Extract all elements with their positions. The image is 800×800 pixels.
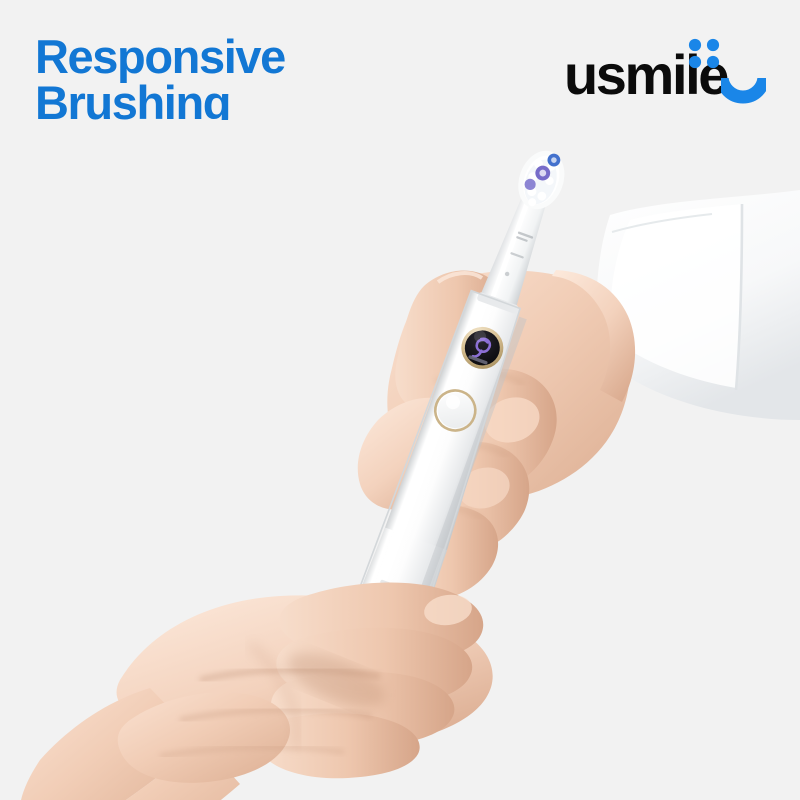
page-title: Responsive Brushing xyxy=(35,34,285,126)
brand-logo: usmile xyxy=(566,36,766,104)
product-photo xyxy=(0,120,800,800)
usmile-logo-mark: usmile xyxy=(566,36,766,104)
logo-wordmark: usmile xyxy=(566,43,728,104)
product-banner: Responsive Brushing Get the bass brushin… xyxy=(0,0,800,800)
logo-smile-arc xyxy=(722,55,764,97)
